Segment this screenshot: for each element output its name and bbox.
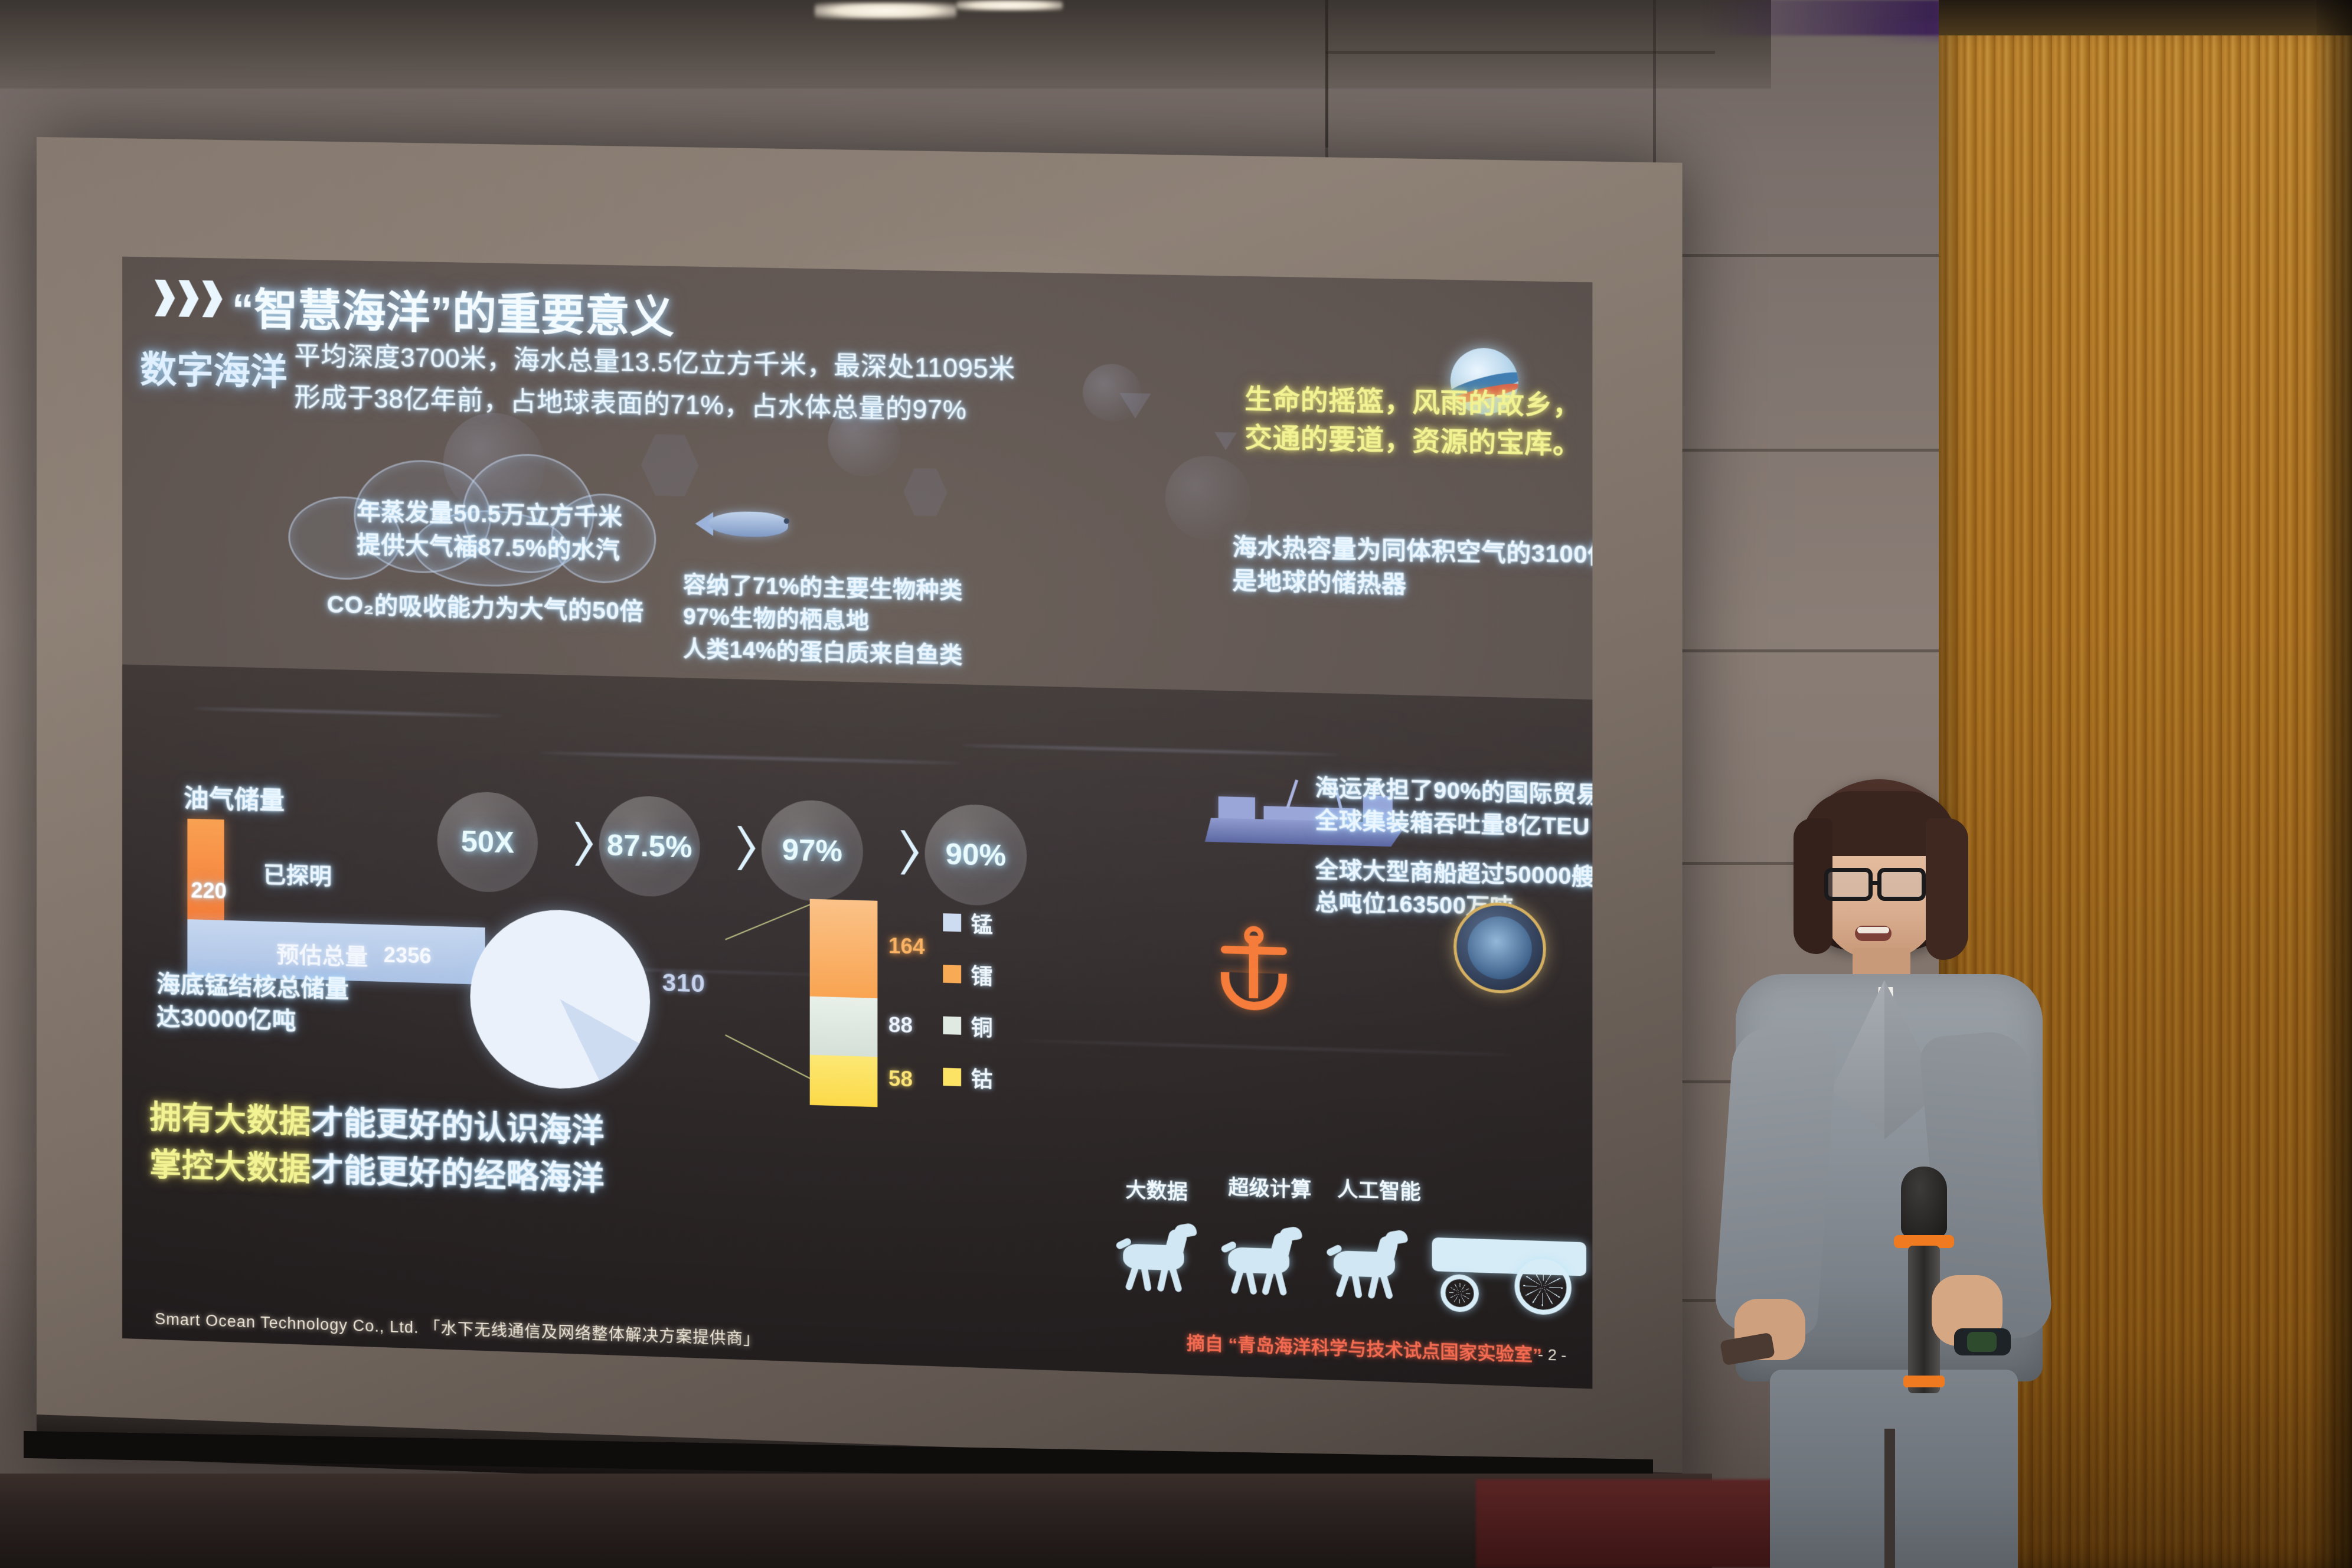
triangle-glow [1119, 393, 1151, 419]
glasses-icon [1877, 868, 1926, 901]
slogan-line-1-rest: 才能更好的认识海洋 [311, 1105, 605, 1149]
bar-estimated-value: 2356 [384, 943, 432, 969]
section-label: 数字海洋 [140, 339, 287, 396]
legend-swatch [943, 1068, 961, 1086]
hex-glow [904, 468, 948, 517]
segment-nickel-value: 164 [888, 933, 925, 959]
horse-icon [1113, 1219, 1194, 1292]
double-chevron-right-icon [155, 280, 222, 318]
legend-item-nickel: 镭 [943, 948, 992, 1001]
segment-nickel [810, 899, 878, 998]
bar-proven-label: 已探明 [263, 856, 332, 890]
conference-room-scene: “智慧海洋”的重要意义 数字海洋 平均深度3700米，海水总量13.5亿立方千米… [0, 0, 2352, 1568]
segment-copper [810, 997, 878, 1057]
bio-note-line-2: 97%生物的栖息地 [683, 598, 869, 635]
wall-seam [1653, 649, 1948, 652]
horse-icon [1324, 1226, 1404, 1300]
stage-front [0, 1474, 1712, 1568]
legend-swatch [943, 965, 961, 983]
nodule-note-line-2: 达30000亿吨 [156, 998, 296, 1036]
legend-item-cobalt: 钴 [943, 1051, 992, 1104]
presenter-trouser-gap [1884, 1429, 1895, 1568]
bar-estimated-label: 预估总量 [276, 936, 368, 971]
legend-item-manganese: 锰 [943, 897, 992, 950]
fish-icon [695, 502, 804, 547]
nodule-stacked-bar: 164 88 58 [810, 899, 878, 1108]
wristwatch-face [1967, 1332, 1997, 1352]
legend-label: 铜 [971, 1011, 993, 1043]
bio-note-line-3: 人类14%的蛋白质来自鱼类 [683, 630, 963, 669]
slogan-line-2-rest: 才能更好的经略海洋 [311, 1152, 605, 1197]
co2-note: CO₂的吸收能力为大气的50倍 [327, 585, 644, 627]
kpi-value: 50X [461, 824, 514, 860]
microphone-icon [1901, 1167, 1947, 1237]
stats-line-2: 形成于38亿年前，占地球表面的71%，占水体总量的97% [294, 375, 966, 427]
slogan-line-2-highlight: 掌控大数据 [149, 1147, 311, 1188]
horse-icon [1219, 1223, 1299, 1296]
nodule-legend: 锰 镭 铜 钴 [943, 897, 992, 1104]
projection-screen[interactable]: “智慧海洋”的重要意义 数字海洋 平均深度3700米，海水总量13.5亿立方千米… [37, 137, 1683, 1515]
bar-proven [187, 819, 224, 920]
wall-seam [1653, 254, 1948, 257]
kpi-value: 90% [945, 837, 1006, 873]
cloud-note-line-2: 提供大气䙄87.5%的水汽 [357, 525, 620, 566]
ceiling-light [815, 2, 956, 19]
legend-label: 镭 [971, 959, 993, 991]
kpi-value: 97% [782, 832, 842, 868]
wagon-wheel [1440, 1274, 1479, 1313]
kpi-value: 87.5% [607, 828, 692, 864]
presentation-slide[interactable]: “智慧海洋”的重要意义 数字海洋 平均深度3700米，海水总量13.5亿立方千米… [122, 257, 1592, 1389]
oil-gas-reserves-chart: 油气储量 220 已探明 预估总量 2356 [158, 778, 491, 971]
microphone-band [1903, 1376, 1945, 1387]
presenter-teeth [1857, 927, 1889, 933]
poem-line-1: 生命的摇篮，风雨的故乡， [1244, 377, 1580, 423]
horse-label-supercomputing: 超级计算 [1228, 1171, 1311, 1203]
wall-seam [1325, 51, 1715, 54]
horse-label-ai: 人工智能 [1337, 1173, 1421, 1205]
legend-label: 钴 [971, 1062, 993, 1094]
segment-copper-value: 88 [888, 1012, 913, 1038]
triangle-glow [1214, 432, 1237, 450]
pie-slice-value: 310 [662, 968, 705, 998]
wall-seam [1653, 449, 1948, 452]
legend-swatch [943, 1016, 961, 1034]
poem-line-2: 交通的要道，资源的宝库。 [1244, 416, 1580, 462]
legend-item-copper: 铜 [943, 999, 992, 1053]
ceiling-light [956, 0, 1063, 11]
glasses-icon [1824, 868, 1873, 901]
segment-cobalt [810, 1055, 878, 1107]
anchor-icon [1217, 925, 1291, 1017]
slogan-line-1-highlight: 拥有大数据 [149, 1100, 311, 1141]
wagon-icon [1432, 1227, 1593, 1317]
wall-seam [1325, 0, 1328, 148]
oil-chart-title: 油气储量 [184, 778, 285, 817]
presenter-hair-side [1926, 818, 1968, 960]
page-number: - 2 - [1538, 1345, 1566, 1365]
legend-label: 锰 [971, 907, 993, 939]
presenter [1700, 779, 2078, 1568]
glasses-bridge [1873, 881, 1880, 885]
horse-label-bigdata: 大数据 [1125, 1174, 1188, 1205]
wood-wall-top-shadow [1939, 0, 2352, 35]
presenter-arm-right [1713, 1024, 1838, 1338]
wall-right-edge [2317, 0, 2352, 1568]
bar-proven-value: 220 [191, 878, 226, 904]
heat-note-line-2: 是地球的储热器 [1233, 561, 1407, 600]
legend-swatch [943, 913, 961, 932]
segment-cobalt-value: 58 [888, 1066, 913, 1092]
